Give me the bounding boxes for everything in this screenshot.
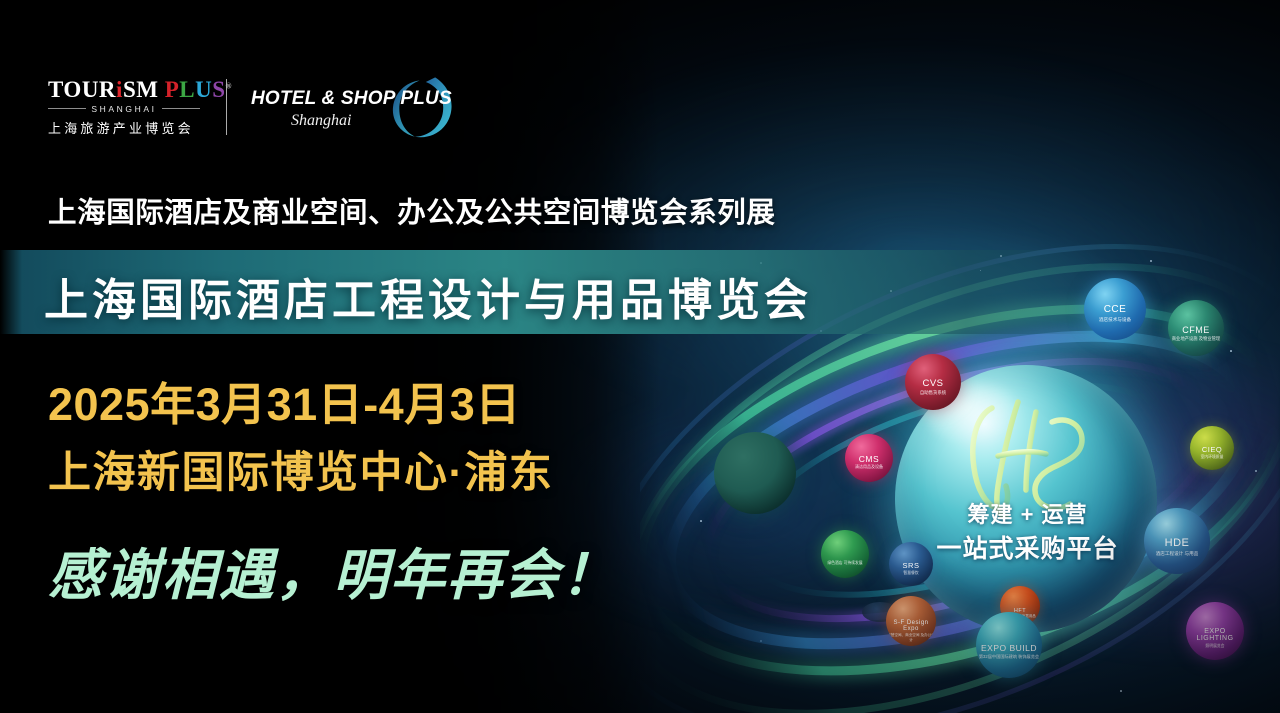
event-dates: 2025年3月31日-4月3日 xyxy=(48,368,521,433)
tourism-plus-logo[interactable]: TOURiSM PLUS® SHANGHAI 上海旅游产业博览会 xyxy=(48,78,200,137)
tourism-plus-wordmark: TOURiSM PLUS® xyxy=(48,78,200,101)
hotel-shop-plus-logo[interactable]: HOTEL & SHOP PLUS Shanghai xyxy=(249,66,449,148)
series-title: 上海国际酒店及商业空间、办公及公共空间博览会系列展 xyxy=(48,190,776,231)
tourism-plus-city-row: SHANGHAI xyxy=(48,104,200,114)
slogan-text: 感谢相遇，明年再会！ xyxy=(48,530,618,610)
logo-divider xyxy=(226,79,227,135)
tourism-plus-city: SHANGHAI xyxy=(91,104,156,114)
tp-u: U xyxy=(195,77,212,102)
hotel-shop-plus-line2: Shanghai xyxy=(291,112,351,130)
event-venue: 上海新国际博览中心·浦东 xyxy=(48,438,553,500)
tourism-plus-name-cn: 上海旅游产业博览会 xyxy=(48,118,200,137)
tp-sm: SM xyxy=(123,77,159,102)
tp-p: P xyxy=(165,77,180,102)
logo-row: TOURiSM PLUS® SHANGHAI 上海旅游产业博览会 xyxy=(48,66,449,148)
rule-left xyxy=(48,108,86,109)
hotel-shop-plus-line1: HOTEL & SHOP PLUS xyxy=(251,88,452,110)
tp-tour: TOUR xyxy=(48,77,116,102)
tp-l: L xyxy=(179,77,195,102)
rule-right xyxy=(162,108,200,109)
poster-canvas: 筹建 + 运营 一站式采购平台 CCE 酒店技术与设备 CFME 商业地产设施 … xyxy=(0,0,1280,713)
tp-i: i xyxy=(116,77,123,102)
main-title: 上海国际酒店工程设计与用品博览会 xyxy=(44,264,812,328)
tp-s: S xyxy=(212,77,225,102)
